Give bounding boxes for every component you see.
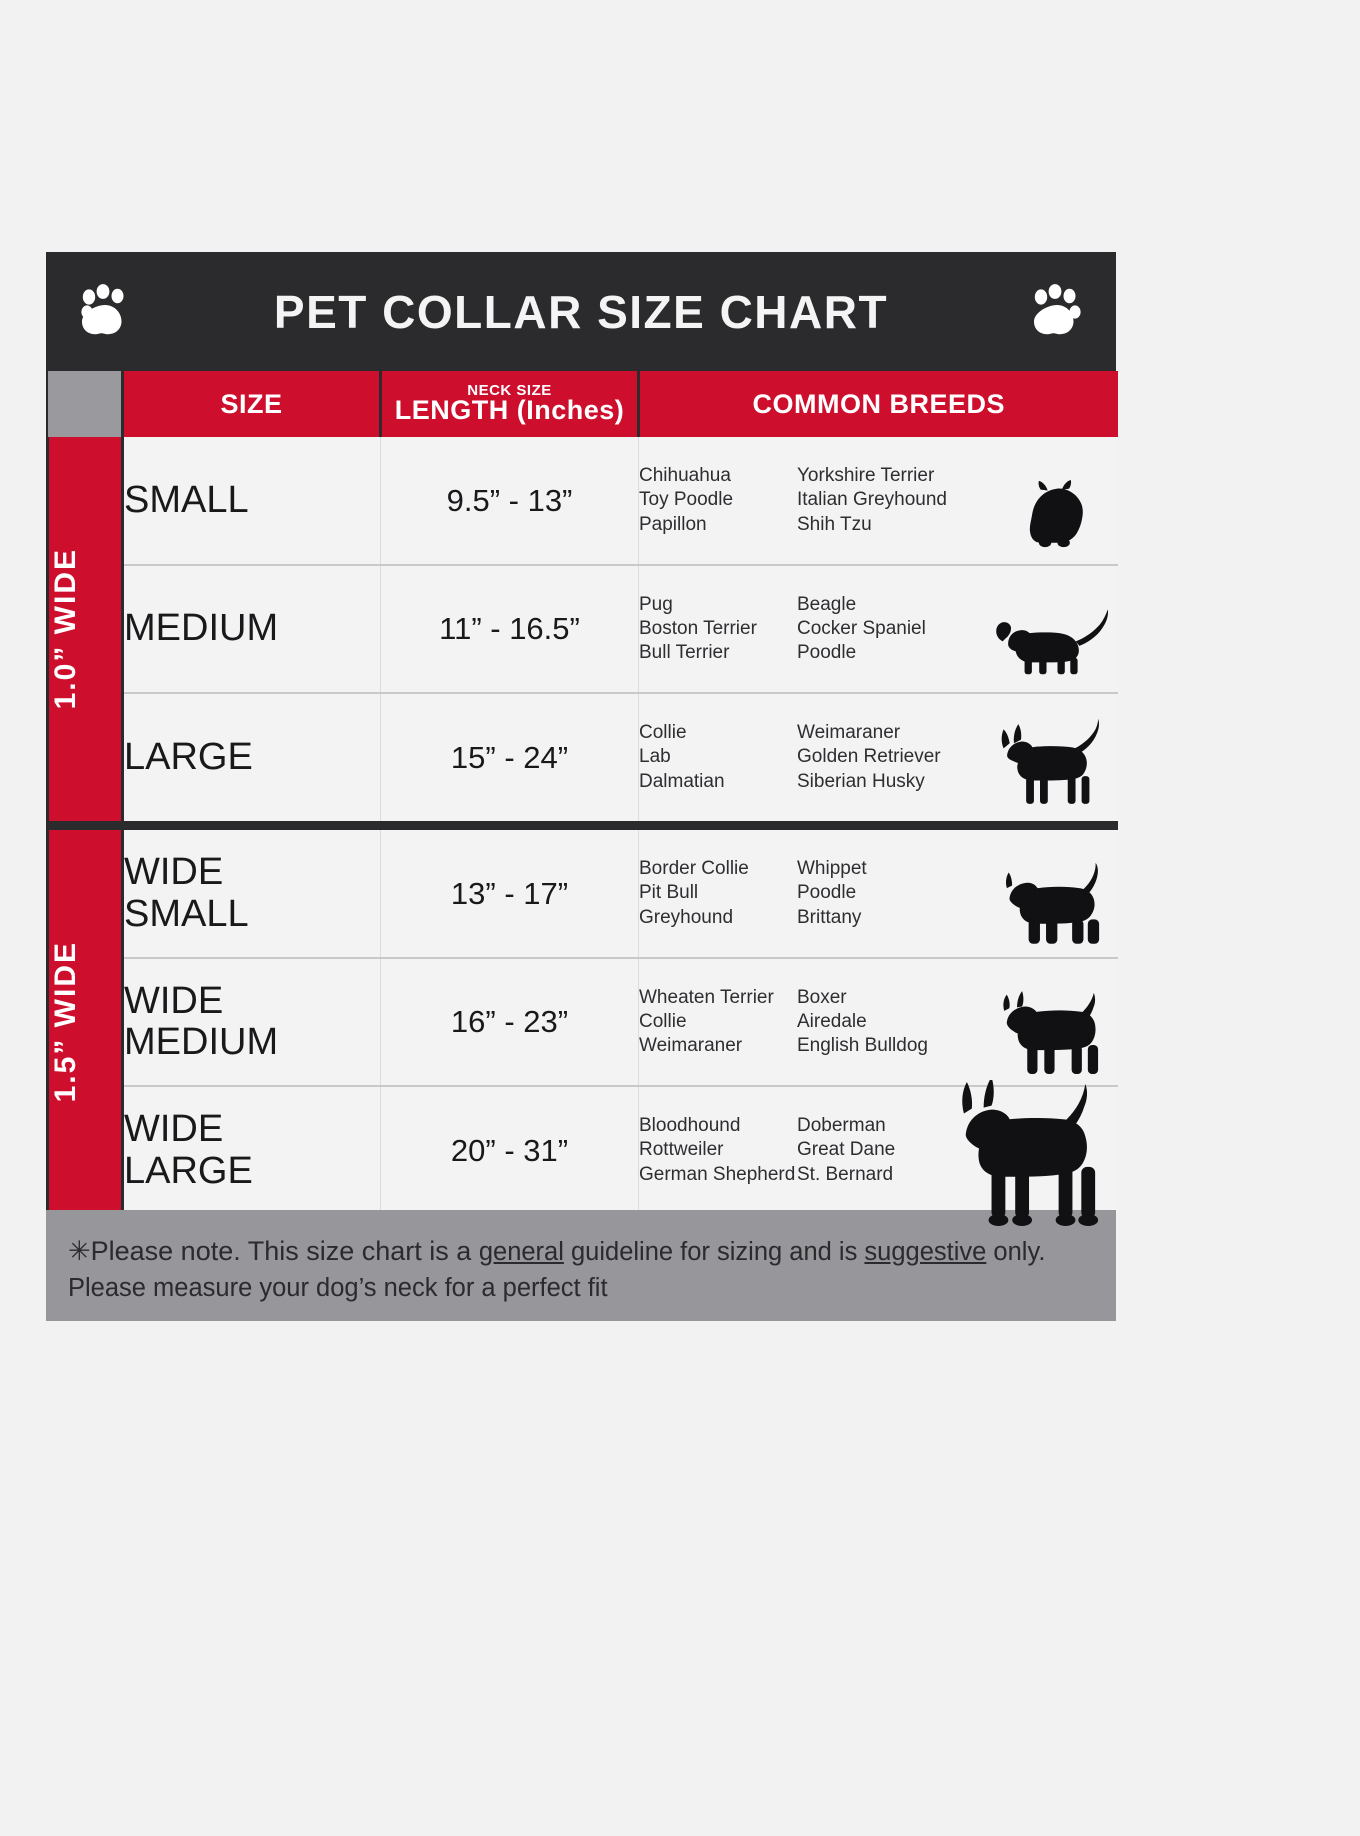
size-line-2: MEDIUM <box>124 1022 380 1063</box>
breed-name: Toy Poodle <box>639 488 797 512</box>
header-corner-blank <box>48 371 123 437</box>
breed-name: Border Collie <box>639 857 797 881</box>
group-label-1-0-wide: 1.0” WIDE <box>48 437 123 821</box>
breed-name: Bull Terrier <box>639 641 797 665</box>
footer-line-2: Please measure your dog’s neck for a per… <box>68 1270 1090 1306</box>
breed-name: Dalmatian <box>639 770 797 794</box>
paw-icon <box>1030 284 1084 340</box>
row-breeds-wide-small: Border Collie Pit Bull Greyhound Whippet… <box>639 830 1118 958</box>
breed-name: German Shepherd <box>639 1163 797 1187</box>
table-row: 1.0” WIDE SMALL 9.5” - 13” Chihuahua Toy… <box>48 437 1118 565</box>
row-length-large: 15” - 24” <box>381 693 639 821</box>
breed-name: Bloodhound <box>639 1114 797 1138</box>
breed-name: Chihuahua <box>639 464 797 488</box>
breed-name: Poodle <box>797 641 972 665</box>
footer-underline-general: general <box>479 1238 564 1266</box>
breed-name: Collie <box>639 1010 797 1034</box>
breed-column-a: Pug Boston Terrier Bull Terrier <box>639 593 797 666</box>
table-row: WIDE MEDIUM 16” - 23” Wheaten Terrier Co… <box>48 958 1118 1086</box>
column-header-length-main: LENGTH (Inches) <box>382 396 637 424</box>
breed-name: Poodle <box>797 881 972 905</box>
breed-column-b: Yorkshire Terrier Italian Greyhound Shih… <box>797 464 972 537</box>
row-length-wide-medium: 16” - 23” <box>381 958 639 1086</box>
row-size-medium: MEDIUM <box>123 565 381 693</box>
breed-name: Italian Greyhound <box>797 488 972 512</box>
breed-name: Papillon <box>639 513 797 537</box>
column-header-size: SIZE <box>123 371 381 437</box>
column-header-length: NECK SIZE LENGTH (Inches) <box>381 371 639 437</box>
table-row: MEDIUM 11” - 16.5” Pug Boston Terrier Bu… <box>48 565 1118 693</box>
breed-name: Weimaraner <box>797 721 972 745</box>
breed-name: Cocker Spaniel <box>797 617 972 641</box>
breed-name: Airedale <box>797 1010 972 1034</box>
breed-column-a: Collie Lab Dalmatian <box>639 721 797 794</box>
asterisk-icon: ✳Please note. This size chart is a <box>68 1236 479 1266</box>
group-label-text: 1.0” WIDE <box>49 548 121 709</box>
row-size-large: LARGE <box>123 693 381 821</box>
breed-name: Brittany <box>797 906 972 930</box>
breed-column-a: Wheaten Terrier Collie Weimaraner <box>639 986 797 1059</box>
footer-text-mid: guideline for sizing and is <box>564 1238 865 1266</box>
breed-name: Weimaraner <box>639 1034 797 1058</box>
row-breeds-wide-medium: Wheaten Terrier Collie Weimaraner Boxer … <box>639 958 1118 1086</box>
breed-name: Beagle <box>797 593 972 617</box>
breed-name: Collie <box>639 721 797 745</box>
breed-name: English Bulldog <box>797 1034 972 1058</box>
row-breeds-large: Collie Lab Dalmatian Weimaraner Golden R… <box>639 693 1118 821</box>
row-size-wide-large: WIDE LARGE <box>123 1086 381 1214</box>
size-line-1: WIDE <box>124 1109 380 1150</box>
breed-name: Golden Retriever <box>797 745 972 769</box>
group-label-1-5-wide: 1.5” WIDE <box>48 830 123 1214</box>
row-length-small: 9.5” - 13” <box>381 437 639 565</box>
size-line-2: SMALL <box>124 894 380 935</box>
column-header-common-breeds: COMMON BREEDS <box>639 371 1118 437</box>
table-row: 1.5” WIDE WIDE SMALL 13” - 17” Border Co… <box>48 830 1118 958</box>
row-size-wide-medium: WIDE MEDIUM <box>123 958 381 1086</box>
breed-name: Shih Tzu <box>797 513 972 537</box>
breed-column-a: Chihuahua Toy Poodle Papillon <box>639 464 797 537</box>
breed-name: Whippet <box>797 857 972 881</box>
table-header-row: SIZE NECK SIZE LENGTH (Inches) COMMON BR… <box>48 371 1118 437</box>
footer-text-end: only. <box>986 1238 1045 1266</box>
group-divider <box>48 821 1118 830</box>
row-breeds-small: Chihuahua Toy Poodle Papillon Yorkshire … <box>639 437 1118 565</box>
breed-column-b: Boxer Airedale English Bulldog <box>797 986 972 1059</box>
table-row: LARGE 15” - 24” Collie Lab Dalmatian Wei… <box>48 693 1118 821</box>
breed-column-b: Weimaraner Golden Retriever Siberian Hus… <box>797 721 972 794</box>
footer-line-1: ✳Please note. This size chart is a gener… <box>68 1232 1090 1270</box>
breed-name: Yorkshire Terrier <box>797 464 972 488</box>
row-breeds-medium: Pug Boston Terrier Bull Terrier Beagle C… <box>639 565 1118 693</box>
row-length-medium: 11” - 16.5” <box>381 565 639 693</box>
pet-collar-size-chart: PET COLLAR SIZE CHART SIZE NECK SIZE <box>46 252 1116 1321</box>
breed-column-b: Whippet Poodle Brittany <box>797 857 972 930</box>
row-length-wide-small: 13” - 17” <box>381 830 639 958</box>
breed-name: Boston Terrier <box>639 617 797 641</box>
breed-name: Rottweiler <box>639 1138 797 1162</box>
row-length-wide-large: 20” - 31” <box>381 1086 639 1214</box>
chart-header: PET COLLAR SIZE CHART <box>46 252 1116 371</box>
breed-name: Lab <box>639 745 797 769</box>
breed-column-b: Beagle Cocker Spaniel Poodle <box>797 593 972 666</box>
doberman-silhouette-icon <box>942 1080 1120 1233</box>
breed-name: Wheaten Terrier <box>639 986 797 1010</box>
paw-icon <box>78 284 132 340</box>
breed-column-a: Bloodhound Rottweiler German Shepherd <box>639 1114 797 1187</box>
page-title: PET COLLAR SIZE CHART <box>274 285 888 339</box>
row-size-wide-small: WIDE SMALL <box>123 830 381 958</box>
size-line-1: SMALL <box>124 480 380 521</box>
size-line-1: LARGE <box>124 737 380 778</box>
breed-name: Boxer <box>797 986 972 1010</box>
size-line-1: WIDE <box>124 852 380 893</box>
breed-name: Pug <box>639 593 797 617</box>
breed-name: Pit Bull <box>639 881 797 905</box>
breed-name: Greyhound <box>639 906 797 930</box>
breed-column-a: Border Collie Pit Bull Greyhound <box>639 857 797 930</box>
size-line-1: MEDIUM <box>124 608 380 649</box>
footer-underline-suggestive: suggestive <box>864 1238 986 1266</box>
breed-name: Siberian Husky <box>797 770 972 794</box>
row-size-small: SMALL <box>123 437 381 565</box>
group-label-text: 1.5” WIDE <box>49 941 121 1102</box>
size-line-2: LARGE <box>124 1151 380 1192</box>
size-line-1: WIDE <box>124 981 380 1022</box>
